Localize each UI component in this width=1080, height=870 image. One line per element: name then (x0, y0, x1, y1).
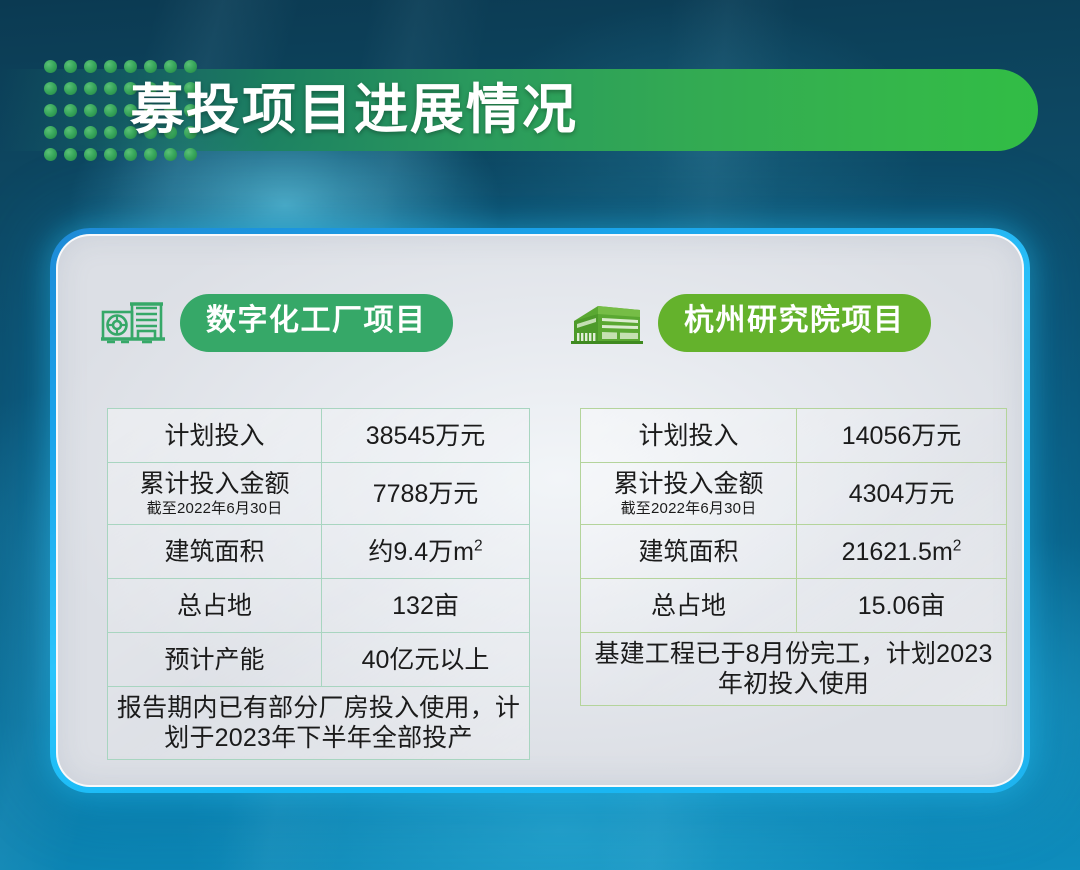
dot (104, 82, 117, 95)
table-row: 计划投入 14056万元 (581, 409, 1007, 463)
row-value: 4304万元 (797, 463, 1007, 525)
dot (64, 82, 77, 95)
project-header-2: 杭州研究院项目 (568, 294, 1022, 352)
row-value: 21621.5m2 (797, 525, 1007, 579)
project-column-hangzhou-research: 杭州研究院项目 计划投入 14056万元 累计投入金额 (540, 236, 1022, 785)
row-label: 累计投入金额 (139, 470, 289, 498)
table-row: 建筑面积 约9.4万m2 (108, 525, 530, 579)
project-columns: 数字化工厂项目 计划投入 38545万元 累计投入金额 (58, 236, 1022, 785)
dot (64, 126, 77, 139)
row-value: 约9.4万m2 (322, 525, 530, 579)
table-row: 建筑面积 21621.5m2 (581, 525, 1007, 579)
dot (84, 60, 97, 73)
digital-factory-icon (100, 296, 166, 350)
dot (84, 148, 97, 161)
project-note-2: 基建工程已于8月份完工，计划2023年初投入使用 (581, 633, 1007, 706)
row-value: 132亩 (322, 579, 530, 633)
row-label: 预计产能 (108, 633, 322, 687)
table-row: 总占地 15.06亩 (581, 579, 1007, 633)
dot (64, 104, 77, 117)
content-card-inner: 数字化工厂项目 计划投入 38545万元 累计投入金额 (56, 234, 1024, 787)
table-footnote-row: 基建工程已于8月份完工，计划2023年初投入使用 (581, 633, 1007, 706)
table-row: 计划投入 38545万元 (108, 409, 530, 463)
dot (44, 126, 57, 139)
project-table-1: 计划投入 38545万元 累计投入金额 截至2022年6月30日 7788万元 (107, 408, 530, 760)
row-value: 7788万元 (322, 463, 530, 525)
dot (104, 104, 117, 117)
row-label-subtitle: 截至2022年6月30日 (112, 500, 317, 518)
project-column-digital-factory: 数字化工厂项目 计划投入 38545万元 累计投入金额 (58, 236, 540, 785)
dot (44, 82, 57, 95)
dot (44, 104, 57, 117)
row-value: 38545万元 (322, 409, 530, 463)
dot (84, 82, 97, 95)
project-table-2: 计划投入 14056万元 累计投入金额 截至2022年6月30日 4304万元 (580, 408, 1007, 706)
row-label: 累计投入金额 (613, 470, 763, 498)
dot (104, 126, 117, 139)
dot (104, 60, 117, 73)
header-banner: 募投项目进展情况 (0, 52, 1040, 170)
slide-canvas: 募投项目进展情况 (0, 0, 1080, 870)
row-label-subtitle: 截至2022年6月30日 (585, 500, 792, 518)
row-label: 总占地 (108, 579, 322, 633)
row-label: 建筑面积 (108, 525, 322, 579)
row-value: 40亿元以上 (322, 633, 530, 687)
row-label: 计划投入 (108, 409, 322, 463)
content-card: 数字化工厂项目 计划投入 38545万元 累计投入金额 (50, 228, 1030, 793)
dot (84, 104, 97, 117)
project-title-badge-2: 杭州研究院项目 (658, 294, 931, 352)
dot (64, 60, 77, 73)
row-label: 总占地 (581, 579, 797, 633)
table-row: 累计投入金额 截至2022年6月30日 7788万元 (108, 463, 530, 525)
research-institute-building-icon (568, 297, 644, 349)
row-label-with-subtitle: 累计投入金额 截至2022年6月30日 (108, 463, 322, 525)
dot (64, 148, 77, 161)
project-title-badge-1: 数字化工厂项目 (180, 294, 453, 352)
dot (84, 126, 97, 139)
dot (44, 60, 57, 73)
project-header-1: 数字化工厂项目 (100, 294, 540, 352)
table-footnote-row: 报告期内已有部分厂房投入使用，计划于2023年下半年全部投产 (108, 687, 530, 760)
dot (144, 148, 157, 161)
table-row: 总占地 132亩 (108, 579, 530, 633)
table-row: 累计投入金额 截至2022年6月30日 4304万元 (581, 463, 1007, 525)
row-value: 14056万元 (797, 409, 1007, 463)
row-label-with-subtitle: 累计投入金额 截至2022年6月30日 (581, 463, 797, 525)
dot (184, 148, 197, 161)
dot (164, 148, 177, 161)
project-note-1: 报告期内已有部分厂房投入使用，计划于2023年下半年全部投产 (108, 687, 530, 760)
dot (124, 148, 137, 161)
row-value: 15.06亩 (797, 579, 1007, 633)
dot (104, 148, 117, 161)
dot (44, 148, 57, 161)
table-row: 预计产能 40亿元以上 (108, 633, 530, 687)
row-label: 建筑面积 (581, 525, 797, 579)
page-title: 募投项目进展情况 (130, 72, 578, 148)
row-label: 计划投入 (581, 409, 797, 463)
